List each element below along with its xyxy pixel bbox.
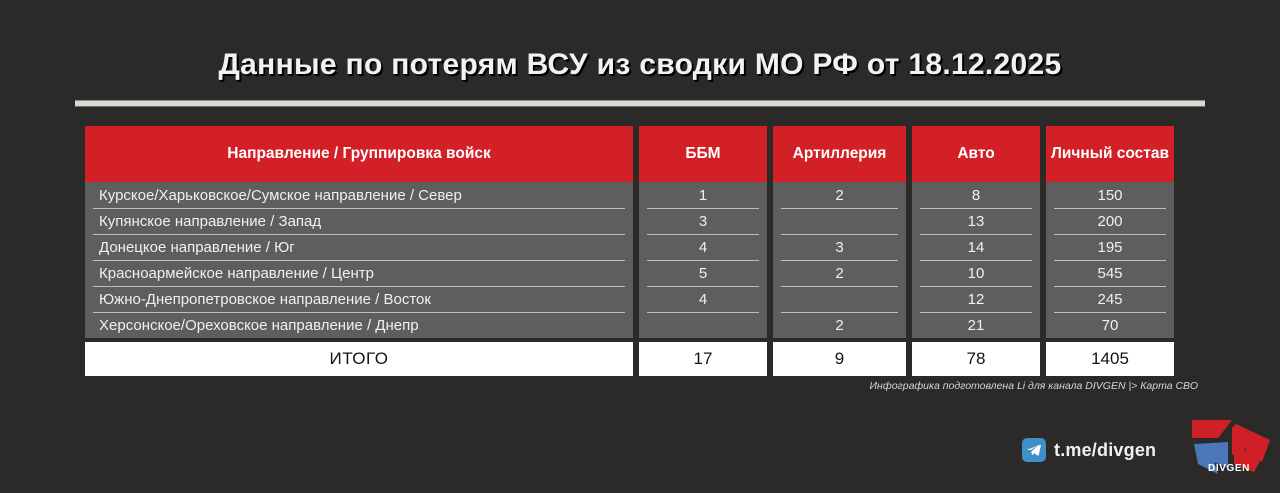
- total-artillery: 9: [773, 342, 906, 376]
- cell-artillery: 2: [773, 260, 906, 286]
- cell-personnel: 200: [1046, 208, 1174, 234]
- title-divider: [75, 100, 1205, 107]
- column-personnel: Личный состав 150 200 195 545 245 70 140…: [1046, 126, 1174, 376]
- cell-personnel: 150: [1046, 182, 1174, 208]
- table-row: Донецкое направление / Юг: [85, 234, 633, 260]
- total-auto: 78: [912, 342, 1040, 376]
- cell-artillery: [773, 286, 906, 312]
- page-title: Данные по потерям ВСУ из сводки МО РФ от…: [0, 48, 1280, 82]
- cell-bbm: 1: [639, 182, 767, 208]
- cell-artillery: 3: [773, 234, 906, 260]
- cell-bbm: 3: [639, 208, 767, 234]
- column-header-bbm: ББМ: [639, 126, 767, 182]
- telegram-icon: [1022, 438, 1046, 462]
- column-bbm: ББМ 1 3 4 5 4 17: [639, 126, 767, 376]
- cell-bbm: 5: [639, 260, 767, 286]
- cell-auto: 21: [912, 312, 1040, 338]
- column-header-auto: Авто: [912, 126, 1040, 182]
- cell-personnel: 545: [1046, 260, 1174, 286]
- table-row: Курское/Харьковское/Сумское направление …: [85, 182, 633, 208]
- column-direction: Направление / Группировка войск Курское/…: [85, 126, 633, 376]
- cell-auto: 12: [912, 286, 1040, 312]
- cell-bbm: 4: [639, 234, 767, 260]
- column-artillery: Артиллерия 2 3 2 2 9: [773, 126, 906, 376]
- cell-auto: 14: [912, 234, 1040, 260]
- total-personnel: 1405: [1046, 342, 1174, 376]
- column-header-direction: Направление / Группировка войск: [85, 126, 633, 182]
- cell-artillery: 2: [773, 182, 906, 208]
- divgen-logo-text: DIVGEN: [1208, 463, 1250, 474]
- cell-personnel: 195: [1046, 234, 1174, 260]
- cell-auto: 13: [912, 208, 1040, 234]
- title-block: Данные по потерям ВСУ из сводки МО РФ от…: [0, 48, 1280, 82]
- table-row: Южно-Днепропетровское направление / Вост…: [85, 286, 633, 312]
- cell-bbm: 4: [639, 286, 767, 312]
- infographic-page: Данные по потерям ВСУ из сводки МО РФ от…: [0, 0, 1280, 490]
- telegram-handle: t.me/divgen: [1054, 440, 1156, 461]
- telegram-badge[interactable]: t.me/divgen: [1022, 438, 1156, 462]
- column-header-personnel: Личный состав: [1046, 126, 1174, 182]
- losses-table: Направление / Группировка войск Курское/…: [85, 126, 1195, 376]
- cell-auto: 10: [912, 260, 1040, 286]
- cell-personnel: 70: [1046, 312, 1174, 338]
- cell-auto: 8: [912, 182, 1040, 208]
- credit-line: Инфографика подготовлена Li для канала D…: [870, 380, 1198, 392]
- cell-artillery: 2: [773, 312, 906, 338]
- table-row: Красноармейское направление / Центр: [85, 260, 633, 286]
- table-row: Купянское направление / Запад: [85, 208, 633, 234]
- total-bbm: 17: [639, 342, 767, 376]
- total-label: ИТОГО: [85, 342, 633, 376]
- table-row: Херсонское/Ореховское направление / Днеп…: [85, 312, 633, 338]
- column-header-artillery: Артиллерия: [773, 126, 906, 182]
- divgen-logo: DIVGEN: [1188, 418, 1274, 488]
- cell-artillery: [773, 208, 906, 234]
- cell-personnel: 245: [1046, 286, 1174, 312]
- column-auto: Авто 8 13 14 10 12 21 78: [912, 126, 1040, 376]
- cell-bbm: [639, 312, 767, 338]
